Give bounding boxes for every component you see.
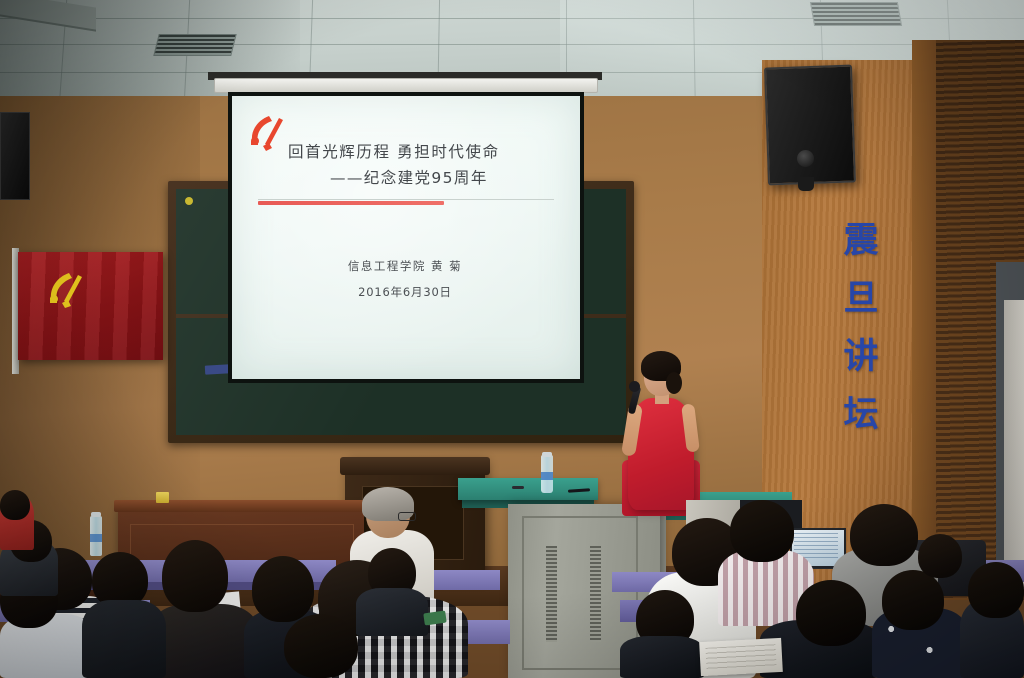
audience-member-head [0,490,30,520]
audience-member-body [620,636,704,678]
audience-member-head [796,580,866,646]
audience-member-body [356,588,428,636]
bottle-cap [91,512,101,517]
lecture-hall-scene: 回首光辉历程 勇担时代使命 ——纪念建党95周年 信息工程学院 黄 菊 2016… [0,0,1024,678]
lectern-top [340,457,490,475]
slide-author: 信息工程学院 黄 菊 [300,258,510,274]
notebook-lines [705,644,776,670]
cpc-hammer-sickle-emblem [245,110,287,152]
wall-speaker-right [764,65,856,186]
audience-member-head [730,500,794,562]
slide-date: 2016年6月30日 [300,284,510,300]
yellow-cup[interactable] [156,492,169,503]
cabinet-vent-slot [546,546,557,642]
audience-member-head [850,504,918,566]
microphone-head-icon [629,381,640,392]
magnet-dot [185,197,193,205]
front-desk-top [114,500,368,512]
projection-screen-roller[interactable] [214,78,598,93]
chalk-eraser[interactable] [205,364,229,374]
slide-title: 回首光辉历程 勇担时代使命 [288,140,558,162]
audience-member-body [82,600,166,678]
audience-member-head [252,556,314,622]
slide-rule-accent [258,201,444,205]
calligraphy-char-3: 讲 [828,328,894,386]
slide-subtitle: ——纪念建党95周年 [330,166,570,188]
hammer-sickle-icon [44,267,86,309]
door-panel[interactable] [1004,300,1024,590]
bottle-cap [542,452,552,457]
presenter-hair-bun [666,372,682,394]
slide-rule-secondary [258,199,554,200]
audience-member-head [918,534,962,578]
audience-member-head [284,614,358,678]
wall-speaker-left [0,112,30,200]
bottle-label [541,472,553,480]
eyeglasses-icon [398,512,416,521]
calligraphy-char-4: 坛 [828,386,894,444]
cpc-party-flag [18,252,163,360]
wall-calligraphy: 震 旦 讲 坛 [828,212,894,444]
audience-member-head [162,540,228,612]
pen[interactable] [512,486,524,489]
cabinet-vent-slot [590,546,601,642]
audience-member-head [968,562,1024,618]
audience-member-body [150,604,258,678]
calligraphy-char-2: 旦 [828,270,894,328]
audience-member-head [882,570,944,630]
speaker-mount [798,177,814,191]
bottle-label [90,534,102,542]
calligraphy-char-1: 震 [828,212,894,270]
